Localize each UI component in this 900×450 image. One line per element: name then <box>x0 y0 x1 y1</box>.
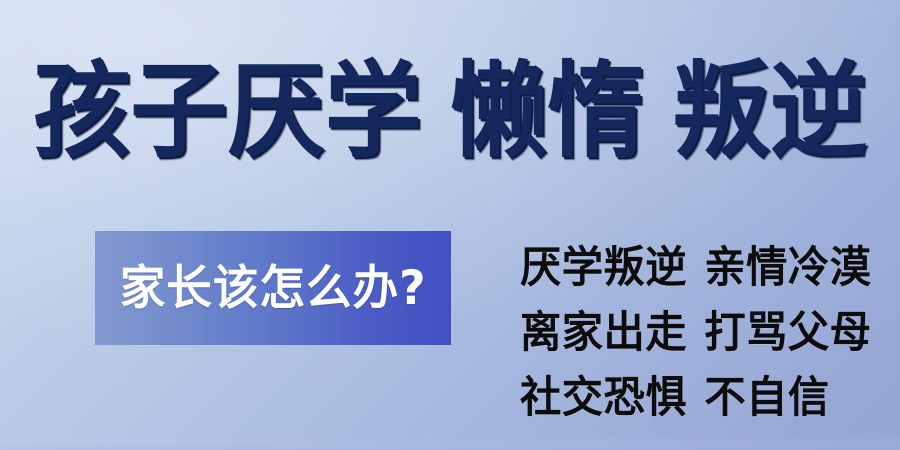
symptom-3-right: 不自信 <box>704 373 829 423</box>
poster-canvas: 孩子厌学懒惰叛逆 家长该怎么办? 厌学叛逆亲情冷漠 离家出走打骂父母 社交恐惧不… <box>0 0 900 450</box>
symptom-1-right: 亲情冷漠 <box>704 243 871 293</box>
symptom-3-left: 社交恐惧 <box>520 373 687 423</box>
bottom-edge-artifact <box>0 436 900 450</box>
symptom-row-2: 离家出走打骂父母 <box>520 301 808 366</box>
symptom-2-left: 离家出走 <box>520 308 687 358</box>
headline-segment-2: 懒惰 <box>450 52 644 170</box>
symptom-row-1: 厌学叛逆亲情冷漠 <box>520 236 808 301</box>
symptom-row-3: 社交恐惧不自信 <box>520 366 808 431</box>
headline-segment-3: 叛逆 <box>673 52 867 170</box>
headline: 孩子厌学懒惰叛逆 <box>29 52 871 170</box>
symptom-1-left: 厌学叛逆 <box>520 243 687 293</box>
symptom-list: 厌学叛逆亲情冷漠 离家出走打骂父母 社交恐惧不自信 <box>520 236 820 431</box>
symptom-2-right: 打骂父母 <box>704 308 871 358</box>
callout-box: 家长该怎么办? <box>95 231 451 345</box>
headline-segment-1: 孩子厌学 <box>33 52 422 170</box>
callout-text: 家长该怎么办? <box>120 265 427 312</box>
